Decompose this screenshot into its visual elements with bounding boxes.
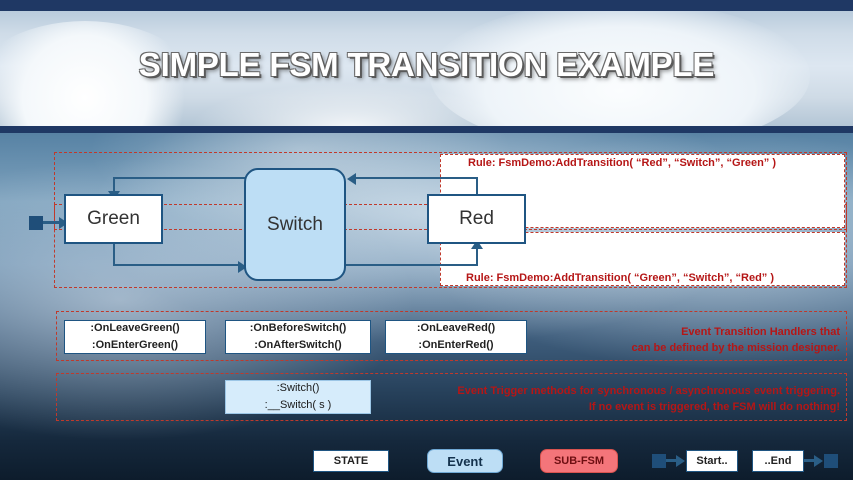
triggers-note: Event Trigger methods for synchronous / … <box>380 384 840 416</box>
edge-red-to-switch-horizontal <box>353 177 478 179</box>
legend-end-label: ..End <box>765 455 792 467</box>
legend-item-event[interactable]: Event <box>427 449 503 473</box>
legend-item-state[interactable]: STATE <box>313 450 389 472</box>
event-node-switch[interactable]: Switch <box>244 168 346 281</box>
edge-switch-to-red-horizontal <box>346 264 478 266</box>
page-title: SIMPLE FSM TRANSITION EXAMPLE <box>0 46 853 84</box>
start-marker-line <box>43 221 60 224</box>
state-node-green-label: Green <box>87 208 140 230</box>
triggers-note-line1: Event Trigger methods for synchronous / … <box>380 384 840 400</box>
start-marker-square <box>29 216 43 230</box>
rule-text-red-switch-green: Rule: FsmDemo:AddTransition( “Red”, “Swi… <box>468 157 776 169</box>
handlers-note-line2: can be defined by the mission designer. <box>500 341 840 357</box>
legend-item-subfsm[interactable]: SUB-FSM <box>540 449 618 473</box>
handler-green-line1: :OnLeaveGreen() <box>90 320 179 337</box>
triggers-note-line2: If no event is triggered, the FSM will d… <box>380 400 840 416</box>
handler-red-line2: :OnEnterRed() <box>418 337 493 354</box>
edge-green-to-switch-horizontal <box>113 264 241 266</box>
state-node-green[interactable]: Green <box>64 194 163 244</box>
handlers-note-line1: Event Transition Handlers that <box>500 325 840 341</box>
legend-start-arrowhead <box>676 455 685 467</box>
state-node-red[interactable]: Red <box>427 194 526 244</box>
legend-item-start[interactable]: Start.. <box>686 450 738 472</box>
top-accent-band <box>0 0 853 11</box>
legend-start-label: Start.. <box>696 455 727 467</box>
slide-canvas: SIMPLE FSM TRANSITION EXAMPLE Rule: FsmD… <box>0 0 853 480</box>
edge-switch-to-red-vertical <box>476 248 478 266</box>
handler-green-line2: :OnEnterGreen() <box>92 337 178 354</box>
edge-switch-to-green-horizontal <box>113 177 248 179</box>
header-divider-band <box>0 126 853 133</box>
event-node-switch-label: Switch <box>267 214 323 236</box>
handler-red-line1: :OnLeaveRed() <box>417 320 495 337</box>
edge-red-to-switch-vertical <box>476 177 478 194</box>
trigger-switch-line1: :Switch() <box>277 380 320 397</box>
legend-item-end[interactable]: ..End <box>752 450 804 472</box>
legend-subfsm-label: SUB-FSM <box>554 455 604 467</box>
edge-red-to-switch-arrowhead <box>347 173 356 185</box>
legend-start-square <box>652 454 666 468</box>
handlers-note: Event Transition Handlers that can be de… <box>500 325 840 357</box>
handler-switch-line1: :OnBeforeSwitch() <box>250 320 347 337</box>
edge-green-to-switch-vertical <box>113 244 115 266</box>
legend-state-label: STATE <box>334 455 368 467</box>
handler-box-green[interactable]: :OnLeaveGreen() :OnEnterGreen() <box>64 320 206 354</box>
handler-box-switch[interactable]: :OnBeforeSwitch() :OnAfterSwitch() <box>225 320 371 354</box>
legend-end-square <box>824 454 838 468</box>
trigger-box-switch[interactable]: :Switch() :__Switch( s ) <box>225 380 371 414</box>
rule-text-green-switch-red: Rule: FsmDemo:AddTransition( “Green”, “S… <box>466 272 774 284</box>
legend-event-label: Event <box>447 454 482 469</box>
state-node-red-label: Red <box>459 208 494 230</box>
handler-switch-line2: :OnAfterSwitch() <box>254 337 341 354</box>
trigger-switch-line2: :__Switch( s ) <box>265 397 332 414</box>
legend-end-arrowhead <box>814 455 823 467</box>
